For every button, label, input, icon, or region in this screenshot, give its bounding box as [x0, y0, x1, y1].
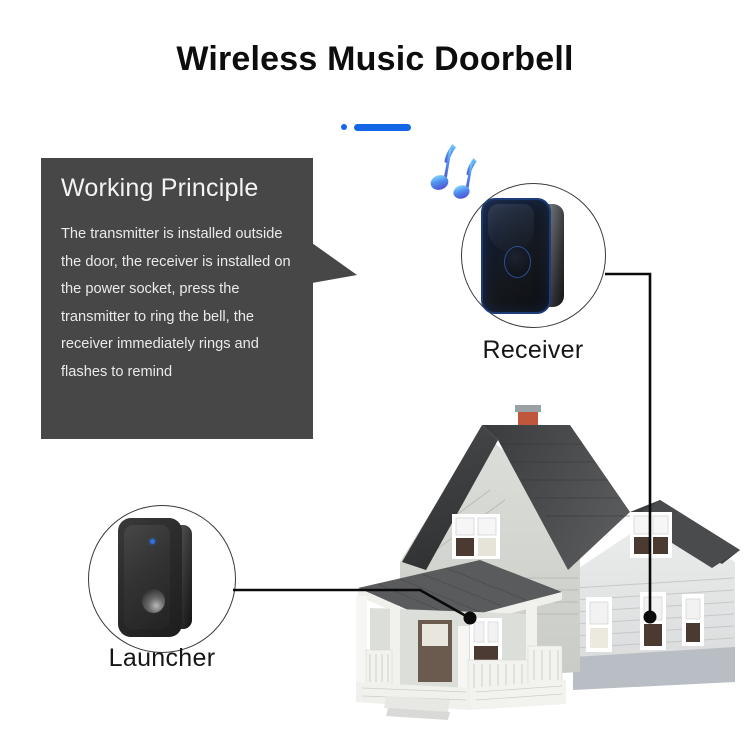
- music-notes-icon: [424, 134, 496, 206]
- signal-dash-icon: [354, 124, 411, 131]
- receiver-label: Receiver: [433, 336, 633, 365]
- working-principle-callout: Working Principle The transmitter is ins…: [41, 158, 313, 439]
- signal-dot-icon: [341, 124, 347, 130]
- launcher-led-icon: [150, 539, 155, 544]
- page-title: Wireless Music Doorbell: [0, 40, 750, 79]
- model-house-illustration: [330, 392, 750, 722]
- launcher-front-face: [124, 525, 170, 629]
- receiver-button-icon: [504, 246, 531, 278]
- wireless-signal-mark: [341, 122, 415, 132]
- callout-body-text: The transmitter is installed outside the…: [61, 221, 303, 386]
- doorbell-transmitter-icon[interactable]: [118, 518, 200, 637]
- launcher-button-icon: [142, 589, 165, 613]
- callout-tail-pointer: [312, 243, 358, 293]
- receiver-gloss: [488, 204, 534, 252]
- callout-heading: Working Principle: [61, 174, 258, 203]
- launcher-label: Launcher: [62, 644, 262, 673]
- launcher-body: [118, 518, 182, 637]
- receiver-front-face: [481, 198, 551, 314]
- infographic-canvas: Wireless Music Doorbell: [0, 0, 750, 750]
- doorbell-receiver-icon[interactable]: [481, 198, 573, 314]
